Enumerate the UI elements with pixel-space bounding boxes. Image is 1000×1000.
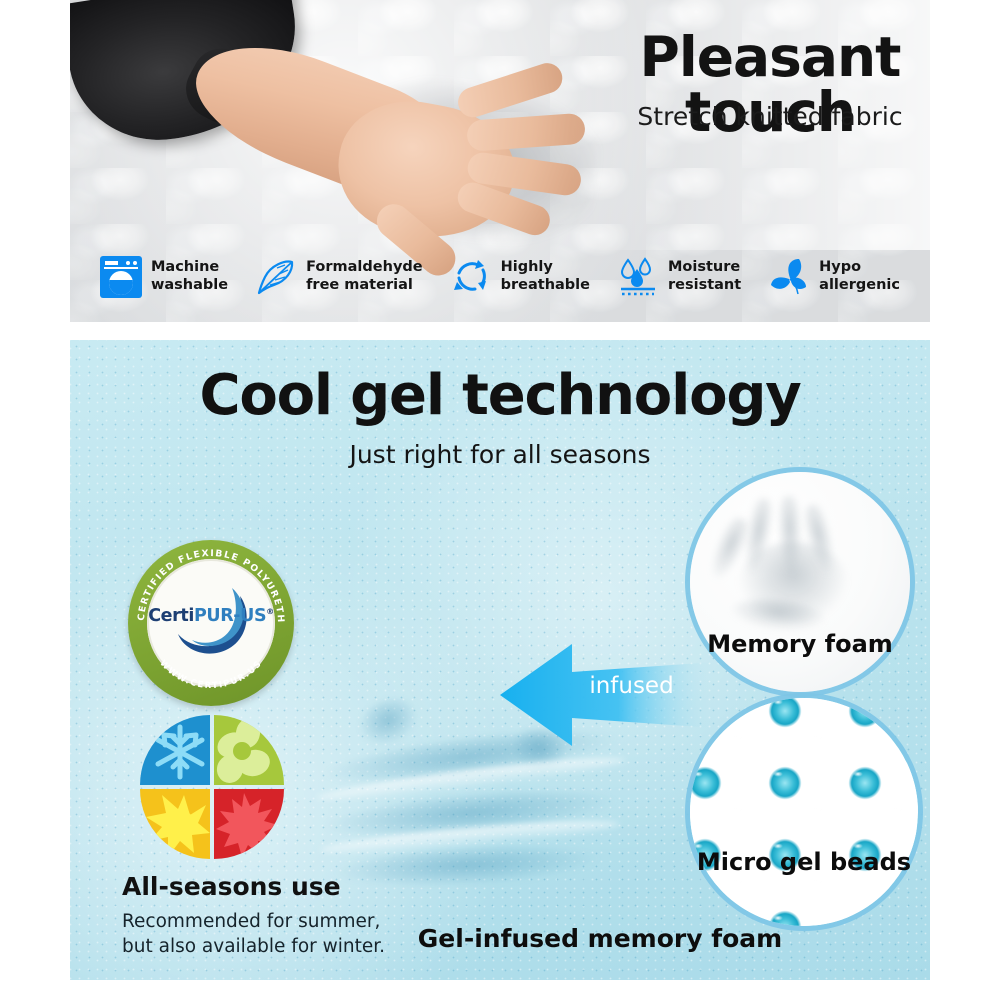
feature-label: Highly breathable bbox=[501, 259, 590, 294]
snowflake-icon bbox=[140, 715, 210, 785]
sun-icon bbox=[140, 789, 210, 859]
feature-label: Formaldehyde free material bbox=[306, 259, 423, 294]
micro-gel-beads-label: Micro gel beads bbox=[690, 848, 918, 876]
page-subtitle: Stretch knitted fabric bbox=[570, 102, 930, 131]
gel-beads-highlights bbox=[690, 698, 918, 926]
spring-quadrant bbox=[214, 715, 284, 785]
foam-handprint bbox=[690, 472, 910, 692]
maple-leaf-icon bbox=[214, 789, 284, 859]
certipur-us-badge: CONTAINS CERTIFIED FLEXIBLE POLYURETHANE… bbox=[128, 540, 294, 706]
feature-strip: Machine washable Formaldehyde free mater… bbox=[70, 243, 930, 311]
feature-hypo-allergenic: Hypo allergenic bbox=[768, 256, 900, 298]
gel-foam-caption: Gel-infused memory foam bbox=[400, 924, 800, 953]
water-droplets-icon bbox=[617, 256, 659, 298]
certipur-wordmark: CertiPUR-US® bbox=[128, 606, 294, 626]
feature-label: Moisture resistant bbox=[668, 259, 741, 294]
seasons-description: Recommended for summer, but also availab… bbox=[122, 910, 422, 960]
seasons-title: All-seasons use bbox=[122, 872, 542, 901]
memory-foam-circle bbox=[690, 472, 910, 692]
infused-arrow-label: infused bbox=[500, 673, 715, 699]
breathable-arrows-icon bbox=[450, 256, 492, 298]
memory-foam-label: Memory foam bbox=[690, 630, 910, 658]
certipur-registered-mark: ® bbox=[266, 607, 274, 616]
feature-label: Hypo allergenic bbox=[819, 259, 900, 294]
feature-machine-washable: Machine washable bbox=[100, 256, 228, 298]
butterfly-leaf-icon bbox=[768, 256, 810, 298]
feature-highly-breathable: Highly breathable bbox=[450, 256, 590, 298]
all-seasons-wheel bbox=[140, 715, 288, 863]
certipur-brand-certi: Certi bbox=[148, 606, 194, 626]
winter-quadrant bbox=[140, 715, 210, 785]
certipur-brand-pur: PUR-US bbox=[194, 606, 266, 626]
autumn-quadrant bbox=[214, 789, 284, 859]
micro-gel-beads-circle bbox=[690, 698, 918, 926]
feather-icon bbox=[255, 256, 297, 298]
section-subtitle: Just right for all seasons bbox=[70, 440, 930, 469]
section-title: Cool gel technology bbox=[70, 368, 930, 424]
flower-icon bbox=[214, 715, 284, 785]
bottom-panel: Cool gel technology Just right for all s… bbox=[70, 340, 930, 980]
feature-moisture-resistant: Moisture resistant bbox=[617, 256, 741, 298]
washing-machine-icon bbox=[100, 256, 142, 298]
feature-formaldehyde-free: Formaldehyde free material bbox=[255, 256, 423, 298]
feature-label: Machine washable bbox=[151, 259, 228, 294]
summer-quadrant bbox=[140, 789, 210, 859]
infographic-canvas: Pleasant touch Stretch knitted fabric Ma… bbox=[0, 0, 1000, 1000]
